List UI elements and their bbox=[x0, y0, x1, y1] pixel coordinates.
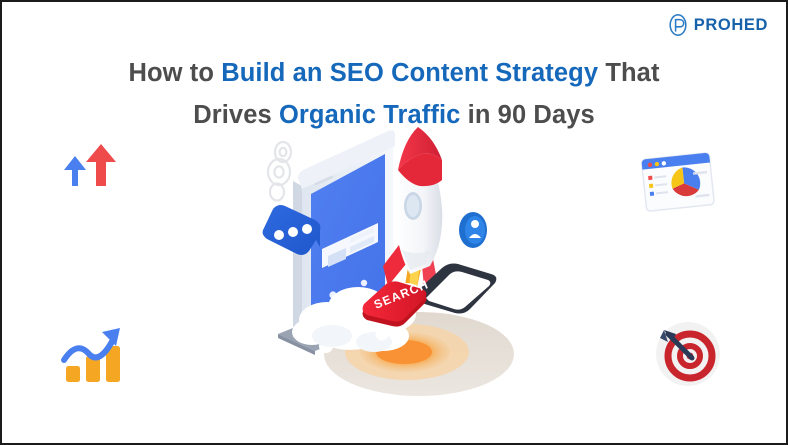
analytics-window-icon bbox=[632, 142, 724, 224]
page-title: How to Build an SEO Content Strategy Tha… bbox=[2, 52, 786, 136]
ground-shadow bbox=[324, 312, 514, 396]
headline-seg-4: Drives bbox=[193, 101, 279, 129]
growth-arrows-icon bbox=[50, 134, 130, 212]
headline-seg-2: Build an SEO Content Strategy bbox=[221, 59, 598, 87]
circle-p-logo-icon bbox=[666, 13, 690, 37]
user-badge bbox=[459, 212, 487, 248]
search-button-label: SEARCH bbox=[372, 277, 431, 312]
headline-line-1: How to Build an SEO Content Strategy Tha… bbox=[128, 59, 659, 87]
ground-glow bbox=[345, 324, 469, 380]
gear-decoration bbox=[268, 142, 291, 201]
headline-seg-1: How to bbox=[128, 59, 221, 87]
phone-search-field bbox=[322, 223, 378, 268]
smartphone-device bbox=[293, 130, 395, 342]
brand-logo[interactable]: PROHED bbox=[666, 13, 768, 37]
chat-bubble bbox=[263, 205, 321, 255]
headline-seg-3: That bbox=[598, 59, 659, 87]
banner-canvas: PROHED How to Build an SEO Content Strat… bbox=[0, 0, 788, 445]
spark-dot bbox=[376, 328, 389, 341]
phone-stand bbox=[278, 326, 335, 355]
headline-seg-6: in 90 Days bbox=[460, 101, 594, 129]
smoke-clouds bbox=[292, 283, 424, 352]
headline-seg-5: Organic Traffic bbox=[279, 101, 460, 129]
target-bullseye-icon bbox=[642, 310, 734, 398]
search-bar bbox=[414, 264, 496, 314]
brand-name: PROHED bbox=[694, 17, 768, 34]
rocket bbox=[383, 127, 442, 304]
headline-line-2: Drives Organic Traffic in 90 Days bbox=[193, 101, 595, 129]
bar-chart-growth-icon bbox=[50, 312, 136, 392]
search-button[interactable]: SEARCH bbox=[363, 277, 431, 326]
